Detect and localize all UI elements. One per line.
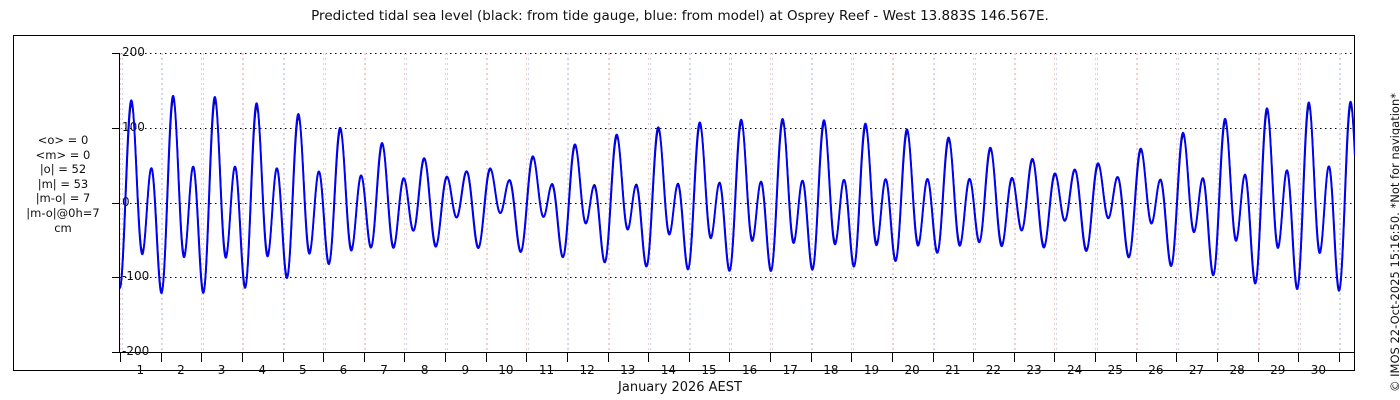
x-tick-label: 21 [933,363,973,377]
x-tick [161,353,162,362]
x-tick [120,353,121,362]
x-tick-label: 7 [364,363,404,377]
x-tick [526,353,527,362]
x-tick-label: 5 [283,363,323,377]
x-tick-label: 20 [892,363,932,377]
x-tick [283,353,284,362]
tide-series-lines [120,53,1355,352]
x-tick-label: 3 [202,363,242,377]
x-tick [1217,353,1218,362]
x-tick-label: 17 [770,363,810,377]
x-tick [689,353,690,362]
x-tick-label: 10 [486,363,526,377]
x-tick [608,353,609,362]
x-tick-label: 22 [973,363,1013,377]
x-tick-label: 23 [1014,363,1054,377]
x-tick [242,353,243,362]
y-tick [112,128,120,129]
y-tick [112,203,120,204]
statistics-block: <o> = 0 <m> = 0 |o| = 52 |m| = 53 |m-o| … [8,133,118,235]
stat-mean-obs: <o> = 0 [8,133,118,148]
x-tick-label: 9 [445,363,485,377]
x-tick-label: 26 [1136,363,1176,377]
x-tick-label: 24 [1055,363,1095,377]
x-tick [1054,353,1055,362]
x-tick [933,353,934,362]
x-tick-label: 18 [811,363,851,377]
x-tick-label: 15 [689,363,729,377]
x-tick-label: 19 [852,363,892,377]
x-tick-label: 16 [730,363,770,377]
stat-units: cm [8,221,118,236]
x-tick-label: 27 [1177,363,1217,377]
y-tick [112,277,120,278]
tide-chart-page: Predicted tidal sea level (black: from t… [0,0,1400,400]
stat-mean-model: <m> = 0 [8,148,118,163]
plot-area [120,53,1355,352]
x-tick [1095,353,1096,362]
y-tick [112,53,120,54]
x-tick [486,353,487,362]
x-tick [323,353,324,362]
x-tick [1298,353,1299,362]
x-tick-label: 8 [405,363,445,377]
x-tick [770,353,771,362]
x-tick-label: 4 [242,363,282,377]
x-tick [1258,353,1259,362]
copyright-notice: © IMOS 22-Oct-2025 15:16:50. *Not for na… [1382,0,1400,400]
x-tick [1136,353,1137,362]
copyright-text: © IMOS 22-Oct-2025 15:16:50. *Not for na… [1388,93,1400,392]
x-tick [445,353,446,362]
x-axis-label: January 2026 AEST [0,380,1360,395]
stat-abs-diff: |m-o| = 7 [8,191,118,206]
x-tick [364,353,365,362]
x-tick [892,353,893,362]
x-tick-label: 25 [1095,363,1135,377]
x-tick [567,353,568,362]
x-tick [973,353,974,362]
stat-abs-diff-0h: |m-o|@0h=7 [8,206,118,221]
x-tick-label: 1 [120,363,160,377]
page-title: Predicted tidal sea level (black: from t… [0,8,1360,24]
x-tick-label: 14 [648,363,688,377]
series-model [120,96,1355,293]
x-tick [851,353,852,362]
x-tick-label: 30 [1298,363,1338,377]
x-tick [1176,353,1177,362]
x-tick-label: 6 [323,363,363,377]
x-tick [729,353,730,362]
x-tick-label: 11 [527,363,567,377]
stat-abs-model: |m| = 53 [8,177,118,192]
x-tick-label: 29 [1258,363,1298,377]
x-tick [1339,353,1340,362]
y-tick [112,352,120,353]
x-tick-label: 28 [1217,363,1257,377]
x-tick-label: 13 [608,363,648,377]
x-axis-spine [119,352,1355,353]
stat-abs-obs: |o| = 52 [8,162,118,177]
x-tick [648,353,649,362]
x-tick-label: 2 [161,363,201,377]
x-tick [201,353,202,362]
x-tick [811,353,812,362]
x-tick [1014,353,1015,362]
x-tick [404,353,405,362]
x-tick-label: 12 [567,363,607,377]
